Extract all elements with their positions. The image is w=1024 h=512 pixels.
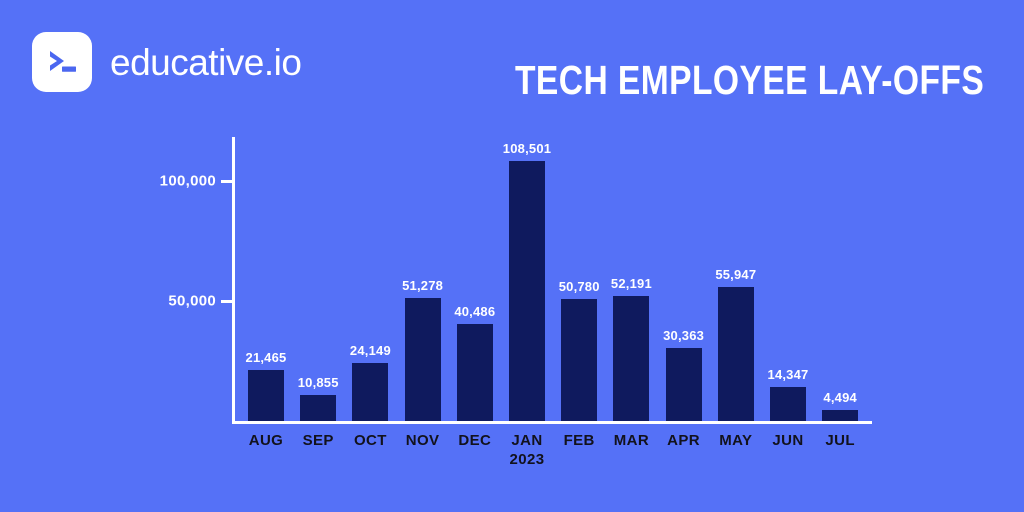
bar[interactable]	[613, 296, 649, 421]
bar[interactable]	[457, 324, 493, 421]
bar[interactable]	[561, 299, 597, 421]
x-axis-category-main: JAN	[511, 432, 542, 449]
x-axis-category-main: FEB	[564, 432, 595, 449]
bar-value-label: 14,347	[748, 367, 828, 382]
y-axis-tick-mark	[221, 180, 233, 183]
y-axis-tick-label: 50,000	[168, 293, 216, 310]
bar-value-label: 55,947	[696, 267, 776, 282]
chart-canvas: educative.io TECH EMPLOYEE LAY-OFFS 50,0…	[0, 0, 1024, 512]
bar-value-label: 24,149	[330, 343, 410, 358]
x-axis-category-main: JUL	[825, 432, 855, 449]
bar-value-label: 40,486	[435, 304, 515, 319]
bar[interactable]	[300, 395, 336, 421]
bar[interactable]	[822, 410, 858, 421]
bar-value-label: 108,501	[487, 141, 567, 156]
bar-value-label: 10,855	[278, 375, 358, 390]
x-axis-line	[232, 421, 872, 424]
x-axis-category-main: SEP	[303, 432, 334, 449]
bar[interactable]	[666, 348, 702, 421]
bar-value-label: 52,191	[591, 276, 671, 291]
x-axis-category-label: JUL	[800, 432, 880, 451]
y-axis-tick-label: 100,000	[160, 173, 216, 190]
x-axis-category-main: JUN	[772, 432, 803, 449]
x-axis-category-sub: 2023	[487, 451, 567, 470]
bar-value-label: 51,278	[383, 278, 463, 293]
bar-value-label: 30,363	[644, 328, 724, 343]
bar[interactable]	[718, 287, 754, 421]
plot-area: 50,000100,000 21,46510,85524,14951,27840…	[0, 0, 1024, 512]
y-axis-tick-mark	[221, 300, 233, 303]
bar[interactable]	[352, 363, 388, 421]
bar-value-label: 4,494	[800, 390, 880, 405]
bar-value-label: 21,465	[226, 350, 306, 365]
